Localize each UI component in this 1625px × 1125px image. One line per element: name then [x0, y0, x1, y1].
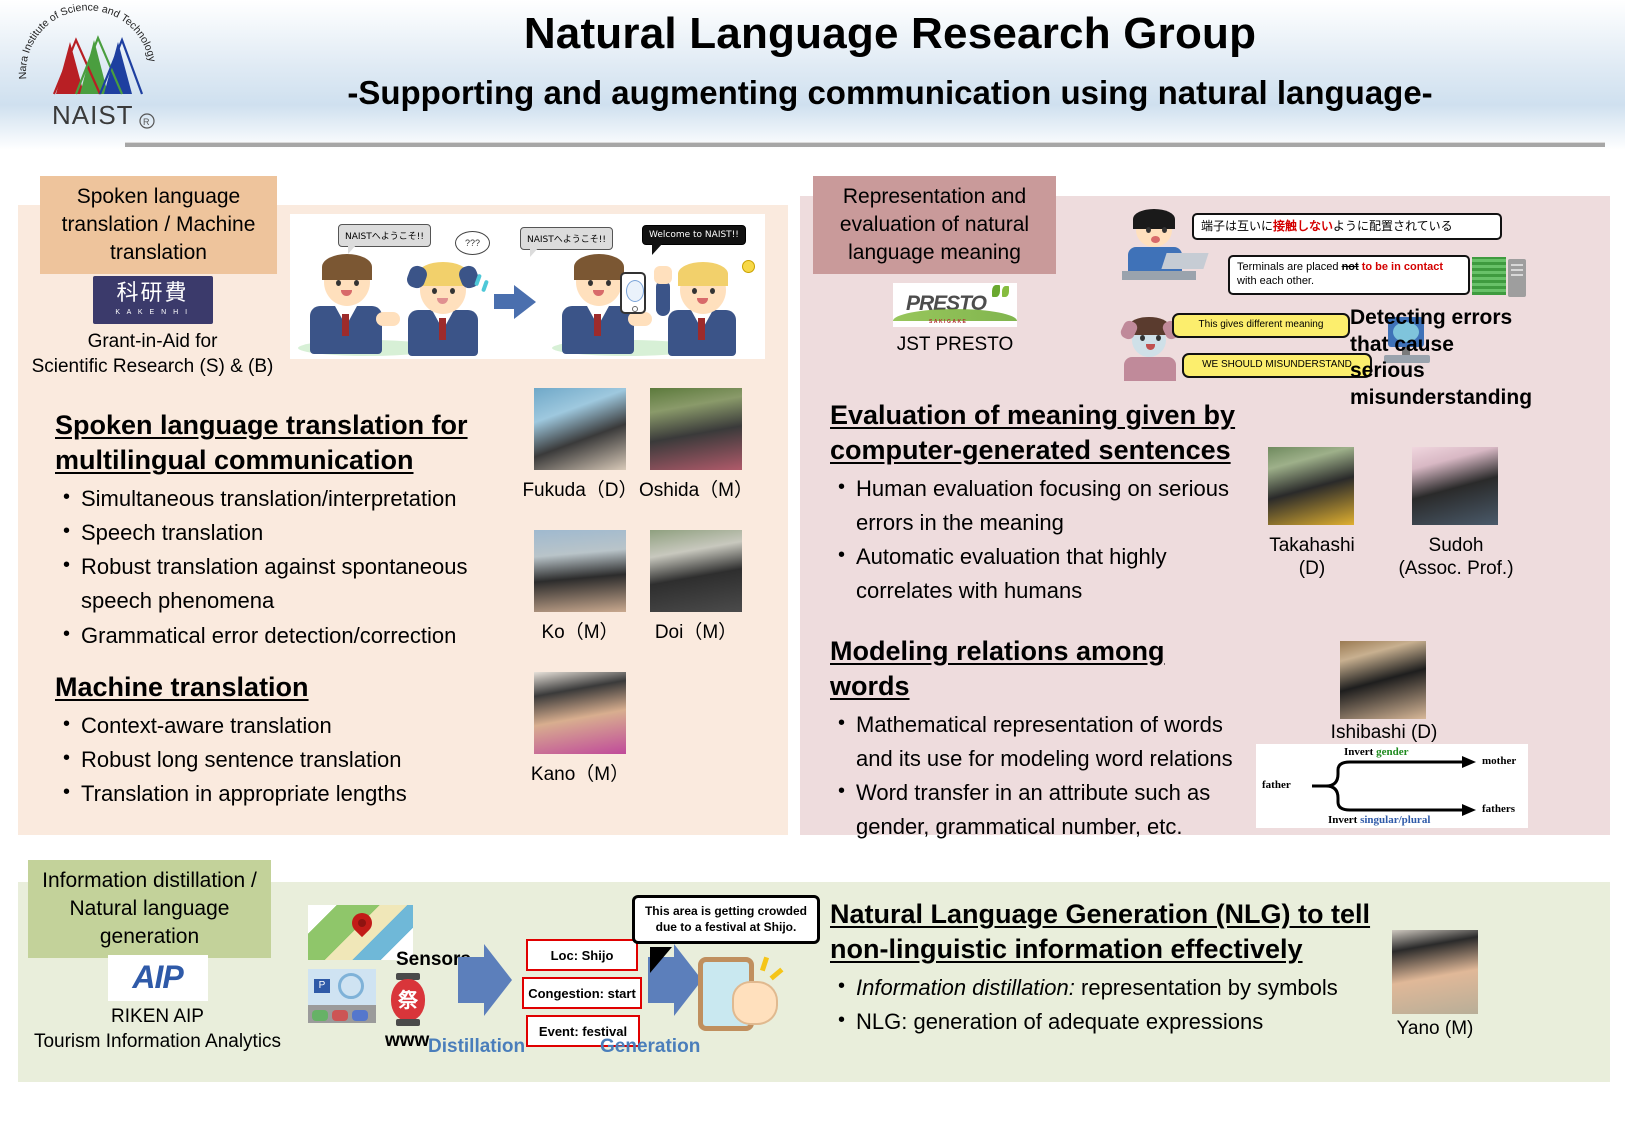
en-text-post: with each other. [1237, 275, 1314, 287]
map-pin-icon [348, 909, 376, 937]
list-item-rest: representation by symbols [1075, 975, 1338, 1000]
tap-spark-1 [760, 957, 769, 972]
kakenhi-logo-jp: 科研費 [116, 283, 188, 305]
list-item: Word transfer in an attribute such as ge… [830, 776, 1250, 844]
en-text-red: to be in contact [1359, 261, 1443, 273]
person-name: Doi（M） [616, 622, 776, 645]
modeling-relations-section: Modeling relations among words Mathemati… [830, 634, 1250, 845]
jp-text-pre: 端子は互いに [1201, 219, 1273, 233]
circuit-board-icon [1472, 257, 1506, 295]
nlg-section: Natural Language Generation (NLG) to tel… [830, 897, 1390, 1039]
avatar [650, 530, 742, 612]
avatar [650, 388, 742, 470]
detecting-errors-text: Detecting errors that cause serious misu… [1350, 305, 1530, 412]
park-image: P [308, 969, 376, 1023]
machine-translation-section: Machine translation Context-aware transl… [55, 670, 495, 811]
top-label-key: gender [1376, 746, 1408, 758]
spoken-translation-section: Spoken language translation for multilin… [55, 408, 495, 653]
presto-caption: JST PRESTO [860, 333, 1050, 358]
person-name: Yano (M) [1362, 1018, 1508, 1041]
person-name-line1: Takahashi [1244, 535, 1380, 558]
translation-illustration: NAISTへようこそ!! ??? NAISTへようこそ!! Welcome to… [290, 214, 765, 359]
presto-logo-sub: SAKIGAKE [929, 319, 967, 326]
machine-translation-heading: Machine translation [55, 670, 495, 705]
jp-text-post: ように配置されている [1333, 219, 1453, 233]
svg-text:NAIST: NAIST [52, 100, 134, 130]
word-relation-target-top: mother [1482, 755, 1516, 767]
distillation-step-label: Distillation [428, 1036, 525, 1058]
evaluation-meaning-section: Evaluation of meaning given by computer-… [830, 398, 1250, 609]
japanese-sentence-callout: 端子は互いに接触しないように配置されている [1192, 213, 1502, 240]
person-name: Kano（M） [500, 764, 660, 787]
avatar [1340, 641, 1426, 719]
smartphone-icon [620, 272, 646, 314]
aip-caption-line1: RIKEN AIP [20, 1005, 295, 1030]
kakenhi-caption-line2: Scientific Research (S) & (B) [20, 355, 285, 380]
speech-bubble-english: Welcome to NAIST!! [642, 225, 746, 245]
hand-icon [732, 981, 778, 1025]
yellow-callout-1: This gives different meaning [1172, 313, 1350, 338]
distillation-arrow-body [458, 957, 484, 1003]
en-text-strike: not [1342, 261, 1359, 273]
person-name: Ishibashi (D) [1310, 722, 1458, 745]
poster-root: Nara Institute of Science and Technology… [0, 0, 1625, 1125]
list-item: Information distillation: representation… [830, 971, 1390, 1005]
kakenhi-funding-block: 科研費 K A K E N H I Grant-in-Aid for Scien… [20, 276, 285, 379]
presto-logo-icon: PRESTO SAKIGAKE [893, 283, 1017, 327]
modeling-relations-bullets: Mathematical representation of words and… [830, 708, 1250, 844]
bubble-tail-3 [652, 244, 662, 255]
kakenhi-caption-line1: Grant-in-Aid for [20, 330, 285, 355]
www-label: www [385, 1030, 429, 1052]
presto-leaf-icon [992, 285, 1000, 297]
avatar [1392, 930, 1478, 1014]
distillation-pipeline-diagram: P 祭 Sensors www Loc: Shijo Congestion: s… [300, 895, 800, 1060]
aip-funding-block: AIP RIKEN AIP Tourism Information Analyt… [20, 955, 295, 1054]
person-name: Takahashi (D) [1244, 535, 1380, 581]
poster-header: Nara Institute of Science and Technology… [0, 0, 1625, 150]
word-relation-top-label: Invert gender [1344, 746, 1408, 758]
svg-text:R: R [143, 117, 150, 127]
panel-a-tag: Spoken language translation / Machine tr… [40, 176, 277, 274]
nlg-heading: Natural Language Generation (NLG) to tel… [830, 897, 1390, 967]
panel-c-tag: Information distillation / Natural langu… [28, 860, 271, 958]
kakenhi-logo-icon: 科研費 K A K E N H I [93, 276, 213, 324]
spoken-translation-heading: Spoken language translation for multilin… [55, 408, 495, 478]
avatar [534, 388, 626, 470]
person-name-line1: Sudoh [1382, 535, 1530, 558]
symbol-box: Congestion: start [522, 977, 642, 1009]
list-item: Context-aware translation [55, 709, 495, 743]
person-name: Oshida（M） [616, 480, 776, 503]
en-text-pre: Terminals are placed [1237, 261, 1342, 273]
jp-text-red: 接触しない [1273, 219, 1333, 233]
list-item-rest: NLG: generation of adequate expressions [856, 1009, 1263, 1034]
thought-bubble: ??? [455, 231, 490, 255]
bubble-tail-2 [530, 246, 540, 257]
machine-translation-bullets: Context-aware translation Robust long se… [55, 709, 495, 811]
list-item: Speech translation [55, 516, 495, 550]
person-name: Sudoh (Assoc. Prof.) [1382, 535, 1530, 581]
list-item: Mathematical representation of words and… [830, 708, 1250, 776]
list-item: Grammatical error detection/correction [55, 619, 495, 653]
list-item: Human evaluation focusing on serious err… [830, 472, 1250, 540]
bubble-tail-1 [348, 243, 358, 254]
word-relation-diagram: father Invert gender Invert singular/plu… [1256, 744, 1528, 828]
lantern-cap-bottom [396, 1019, 420, 1026]
list-item: Robust translation against spontaneous s… [55, 550, 495, 618]
evaluation-meaning-bullets: Human evaluation focusing on serious err… [830, 472, 1250, 608]
list-item: Robust long sentence translation [55, 743, 495, 777]
lightbulb-icon [742, 260, 755, 273]
festival-lantern-icon: 祭 [391, 979, 425, 1021]
detect-line-1: Detecting errors [1350, 305, 1530, 332]
yellow-callout-2: WE SHOULD MISUNDERSTAND [1182, 353, 1372, 378]
list-item: Translation in appropriate lengths [55, 777, 495, 811]
aip-logo-word: AIP [132, 957, 182, 999]
detect-line-2: that cause serious [1350, 332, 1530, 385]
naist-logo-icon: Nara Institute of Science and Technology… [8, 2, 168, 142]
presto-leaf-icon-2 [1002, 286, 1009, 297]
word-relation-source: father [1262, 779, 1291, 791]
avatar [534, 530, 626, 612]
cartoon-person-laptop [1120, 213, 1200, 283]
page-title: Natural Language Research Group [170, 6, 1610, 61]
symbol-box: Loc: Shijo [526, 939, 638, 971]
spoken-translation-bullets: Simultaneous translation/interpretation … [55, 482, 495, 652]
distillation-arrow-head [484, 944, 512, 1016]
avatar [1268, 447, 1354, 525]
detect-line-3: misunderstanding [1350, 385, 1530, 412]
bottom-label-key: singular/plural [1360, 814, 1430, 826]
evaluation-meaning-heading: Evaluation of meaning given by computer-… [830, 398, 1250, 468]
top-label-pre: Invert [1344, 746, 1376, 758]
generated-sentence-callout: This area is getting crowded due to a fe… [632, 895, 820, 944]
list-item: Automatic evaluation that highly correla… [830, 540, 1250, 608]
list-item: Simultaneous translation/interpretation [55, 482, 495, 516]
word-relation-bottom-label: Invert singular/plural [1328, 814, 1430, 826]
process-arrow-head [514, 285, 536, 319]
person-name-line2: (Assoc. Prof.) [1382, 558, 1530, 581]
aip-caption-line2: Tourism Information Analytics [20, 1030, 295, 1055]
list-item-emphasis: Information distillation: [856, 975, 1075, 1000]
aip-logo-icon: AIP [108, 955, 208, 1001]
word-relation-target-bottom: fathers [1482, 803, 1515, 815]
server-icon [1508, 259, 1526, 297]
presto-funding-block: PRESTO SAKIGAKE JST PRESTO [860, 283, 1050, 358]
page-subtitle: -Supporting and augmenting communication… [170, 73, 1610, 113]
modeling-relations-heading: Modeling relations among words [830, 634, 1250, 704]
meaning-error-illustration: 端子は互いに接触しないように配置されている Terminals are plac… [1120, 205, 1520, 385]
callout-line-1: This area is getting crowded [643, 904, 809, 920]
list-item: NLG: generation of adequate expressions [830, 1005, 1390, 1039]
kakenhi-logo-en: K A K E N H I [115, 308, 189, 317]
callout-tail [650, 947, 672, 973]
process-arrow-tail [494, 294, 514, 309]
header-divider [125, 142, 1605, 147]
person-name-line2: (D) [1244, 558, 1380, 581]
avatar [534, 672, 626, 754]
callout-line-2: due to a festival at Shijo. [643, 920, 809, 936]
tap-spark-2 [770, 968, 784, 981]
panel-b-tag: Representation and evaluation of natural… [813, 176, 1056, 274]
generation-step-label: Generation [600, 1036, 700, 1058]
avatar [1412, 447, 1498, 525]
english-sentence-callout: Terminals are placed not to be in contac… [1228, 255, 1470, 295]
nlg-bullets: Information distillation: representation… [830, 971, 1390, 1039]
bottom-label-pre: Invert [1328, 814, 1360, 826]
